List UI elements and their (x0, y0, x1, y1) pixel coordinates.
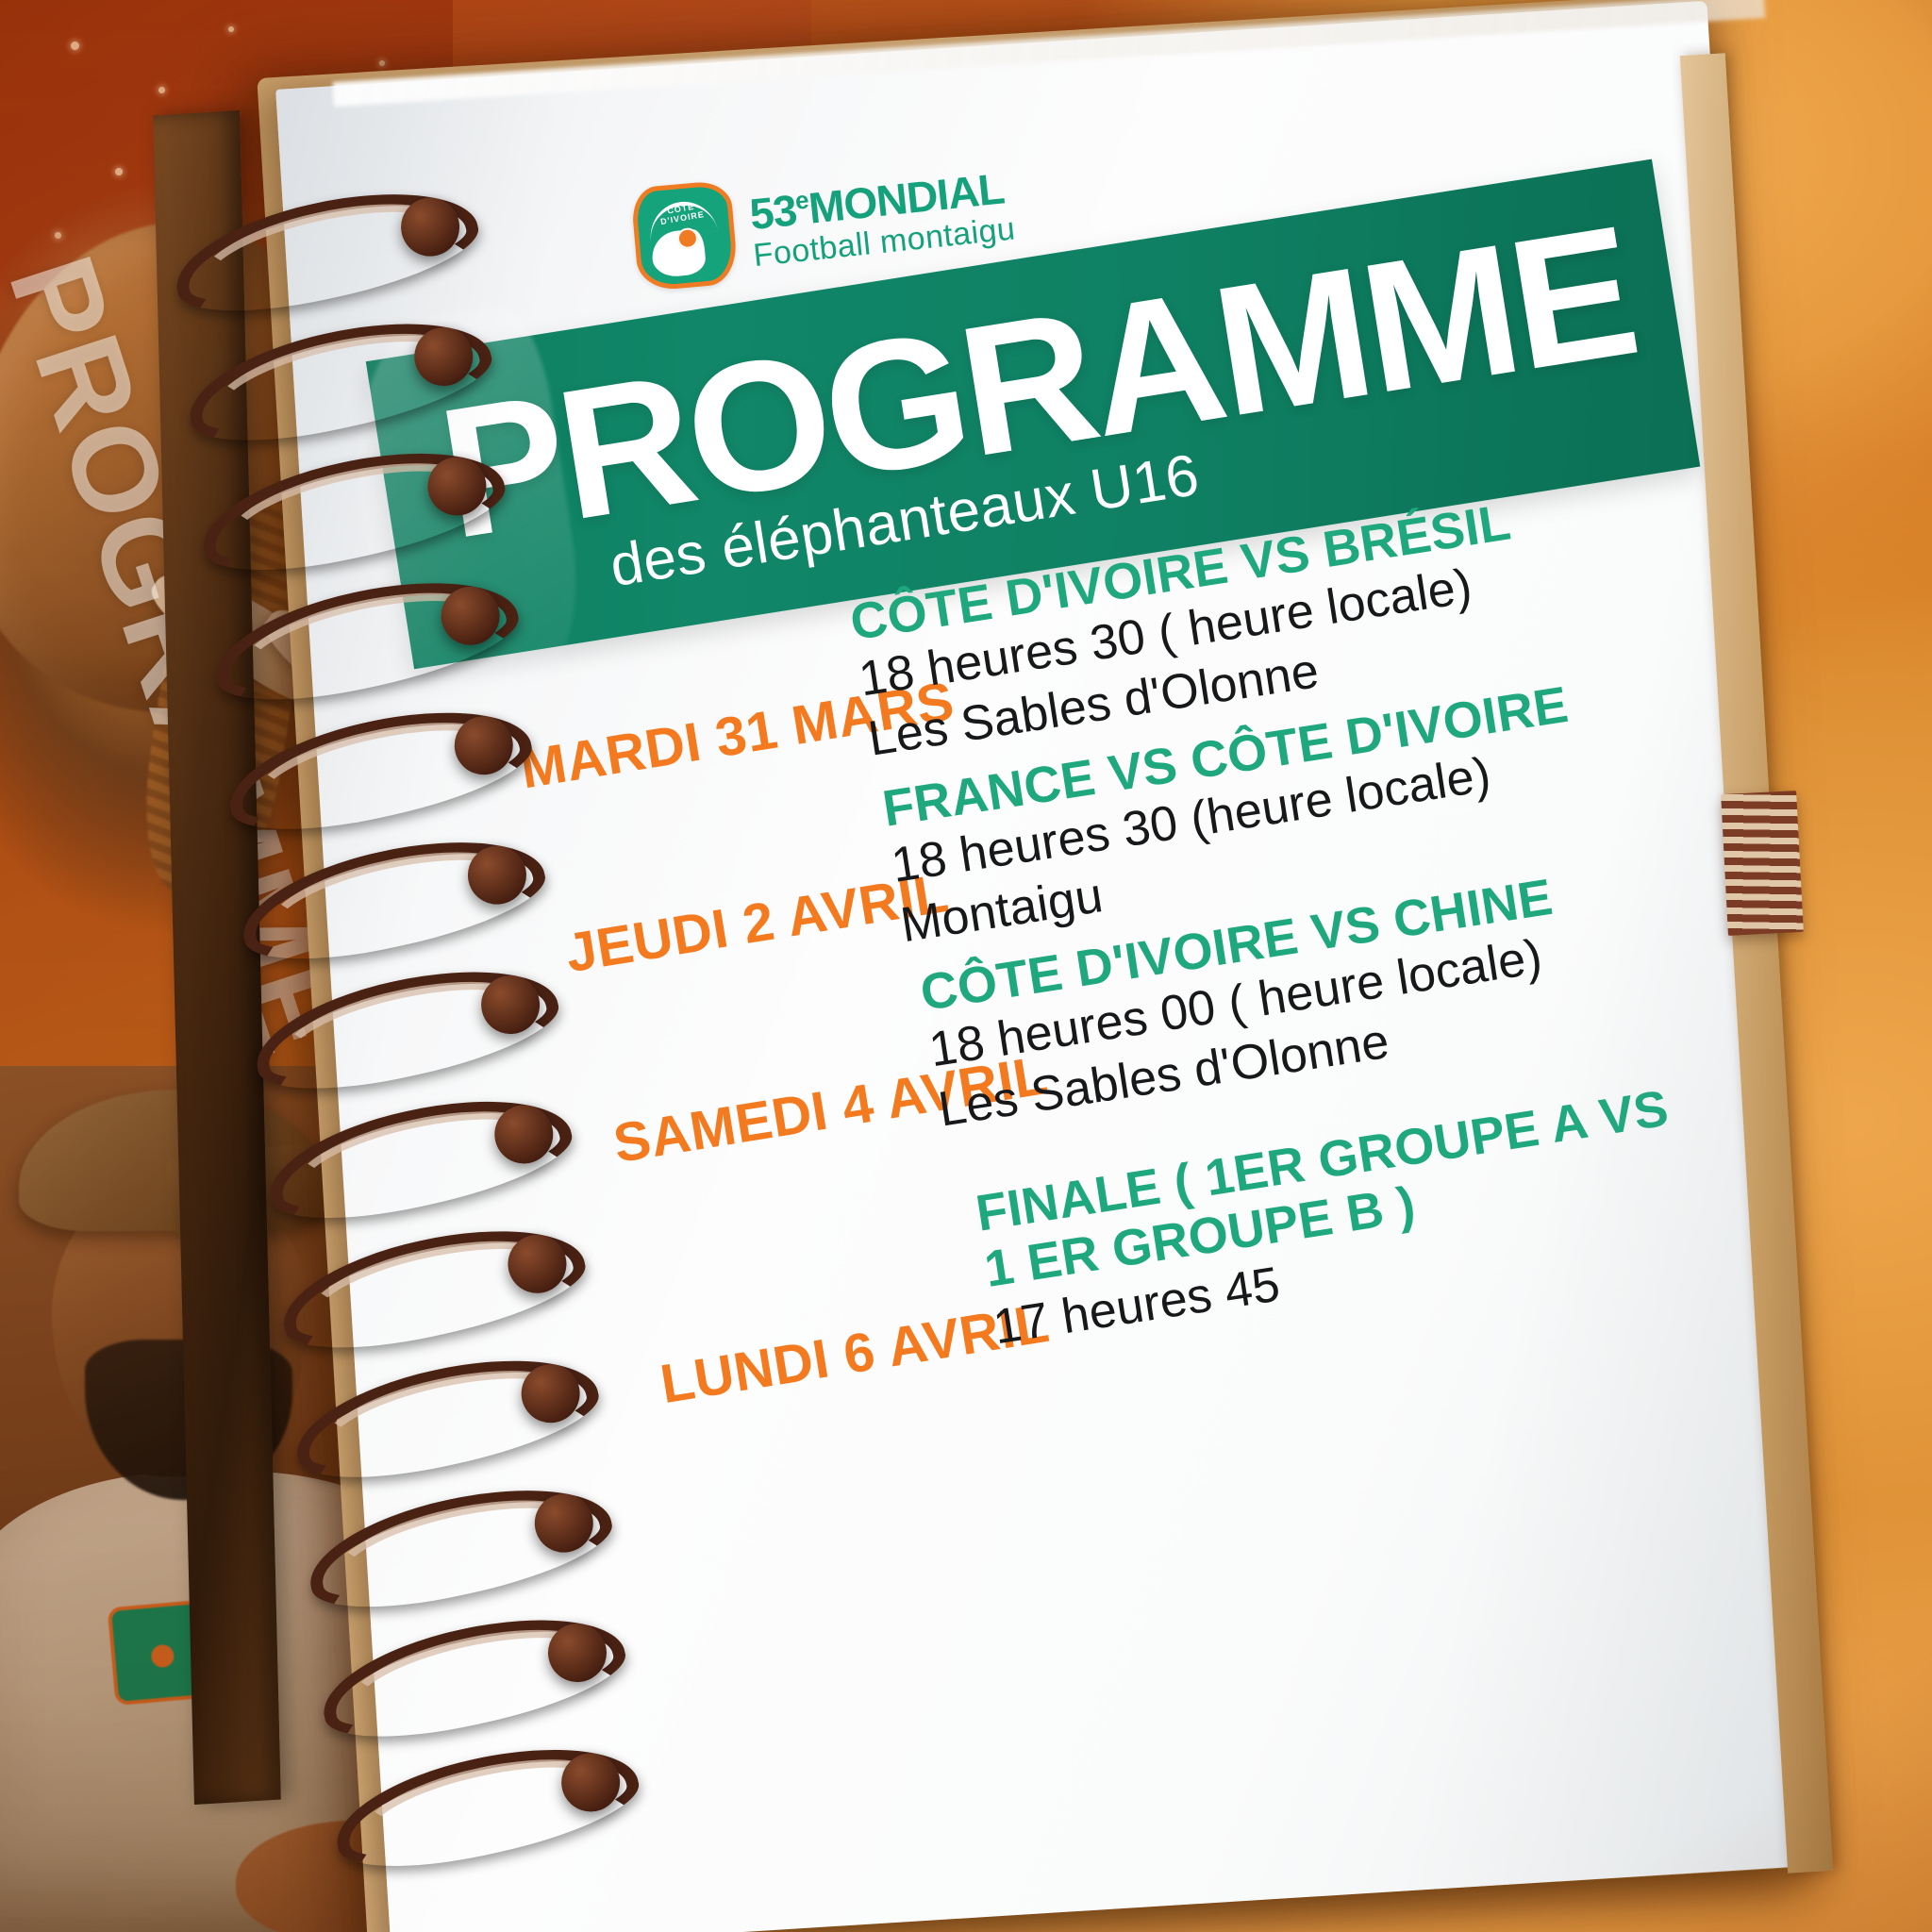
vignette-overlay (0, 0, 1932, 1932)
poster-canvas: PROGRAMME CÔTE D'IVOIRE 53eMONDIAL Footb… (0, 0, 1932, 1932)
